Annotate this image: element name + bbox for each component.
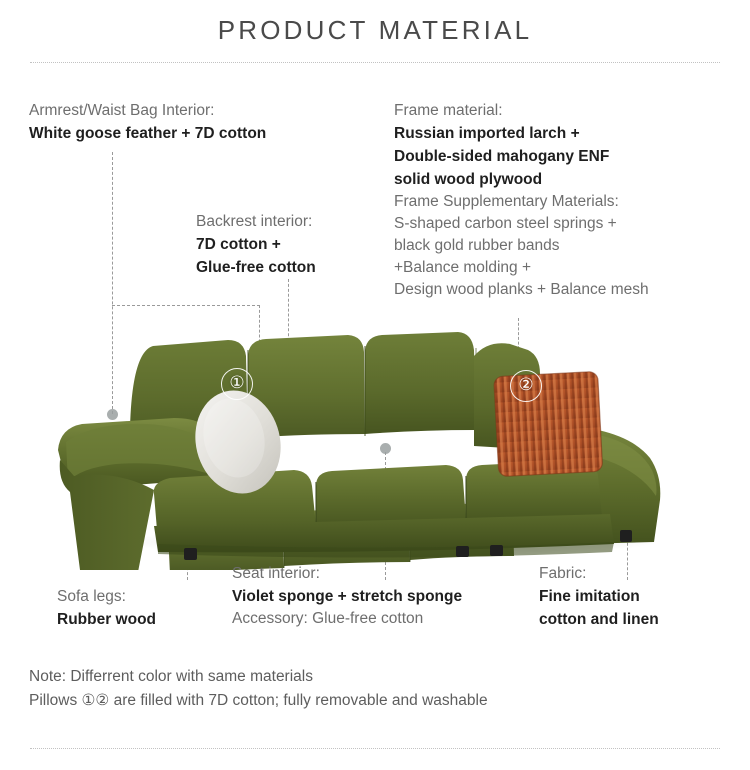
callout-frame-sub-line1: S-shaped carbon steel springs + [394,213,649,235]
sofa-illustration [58,330,698,570]
callout-frame-sub-line3: +Balance molding + [394,257,649,279]
callout-frame-sub-line4: Design wood planks + Balance mesh [394,279,649,301]
callout-legs-value: Rubber wood [57,608,156,631]
divider-top [30,62,720,63]
callout-armrest-value: White goose feather + 7D cotton [29,122,266,145]
callout-backrest-value-line2: Glue-free cotton [196,256,316,279]
divider-bottom [30,748,720,749]
callout-sofa-legs: Sofa legs: Rubber wood [57,586,156,631]
callout-seat-value: Violet sponge + stretch sponge [232,585,462,608]
callout-seat-interior: Seat interior: Violet sponge + stretch s… [232,563,462,630]
footer-notes: Note: Differrent color with same materia… [29,665,488,713]
callout-fabric: Fabric: Fine imitation cotton and linen [539,563,659,631]
pillow-marker-1: ① [221,368,253,400]
callout-frame-label: Frame material: [394,100,649,122]
sofa-product-image: ① ② [58,330,698,570]
callout-backrest: Backrest interior: 7D cotton + Glue-free… [196,211,316,279]
page-title: PRODUCT MATERIAL [0,15,750,46]
note-line-1: Note: Differrent color with same materia… [29,665,488,689]
note-line-2: Pillows ①② are filled with 7D cotton; fu… [29,689,488,713]
callout-fabric-value-line1: Fine imitation [539,585,659,608]
leader-line-armrest-branch [112,305,260,306]
callout-frame: Frame material: Russian imported larch +… [394,100,649,301]
callout-armrest: Armrest/Waist Bag Interior: White goose … [29,100,266,145]
pillow-marker-2: ② [510,370,542,402]
callout-frame-value-line1: Russian imported larch + [394,122,649,145]
callout-seat-label: Seat interior: [232,563,462,585]
callout-backrest-value-line1: 7D cotton + [196,233,316,256]
callout-seat-accessory: Accessory: Glue-free cotton [232,608,462,630]
callout-frame-sub-label: Frame Supplementary Materials: [394,191,649,213]
callout-armrest-label: Armrest/Waist Bag Interior: [29,100,266,122]
callout-frame-value-line3: solid wood plywood [394,168,649,191]
callout-frame-sub-line2: black gold rubber bands [394,235,649,257]
product-material-infographic: PRODUCT MATERIAL [0,0,750,770]
callout-fabric-value-line2: cotton and linen [539,608,659,631]
callout-frame-value-line2: Double-sided mahogany ENF [394,145,649,168]
callout-legs-label: Sofa legs: [57,586,156,608]
callout-fabric-label: Fabric: [539,563,659,585]
callout-backrest-label: Backrest interior: [196,211,316,233]
